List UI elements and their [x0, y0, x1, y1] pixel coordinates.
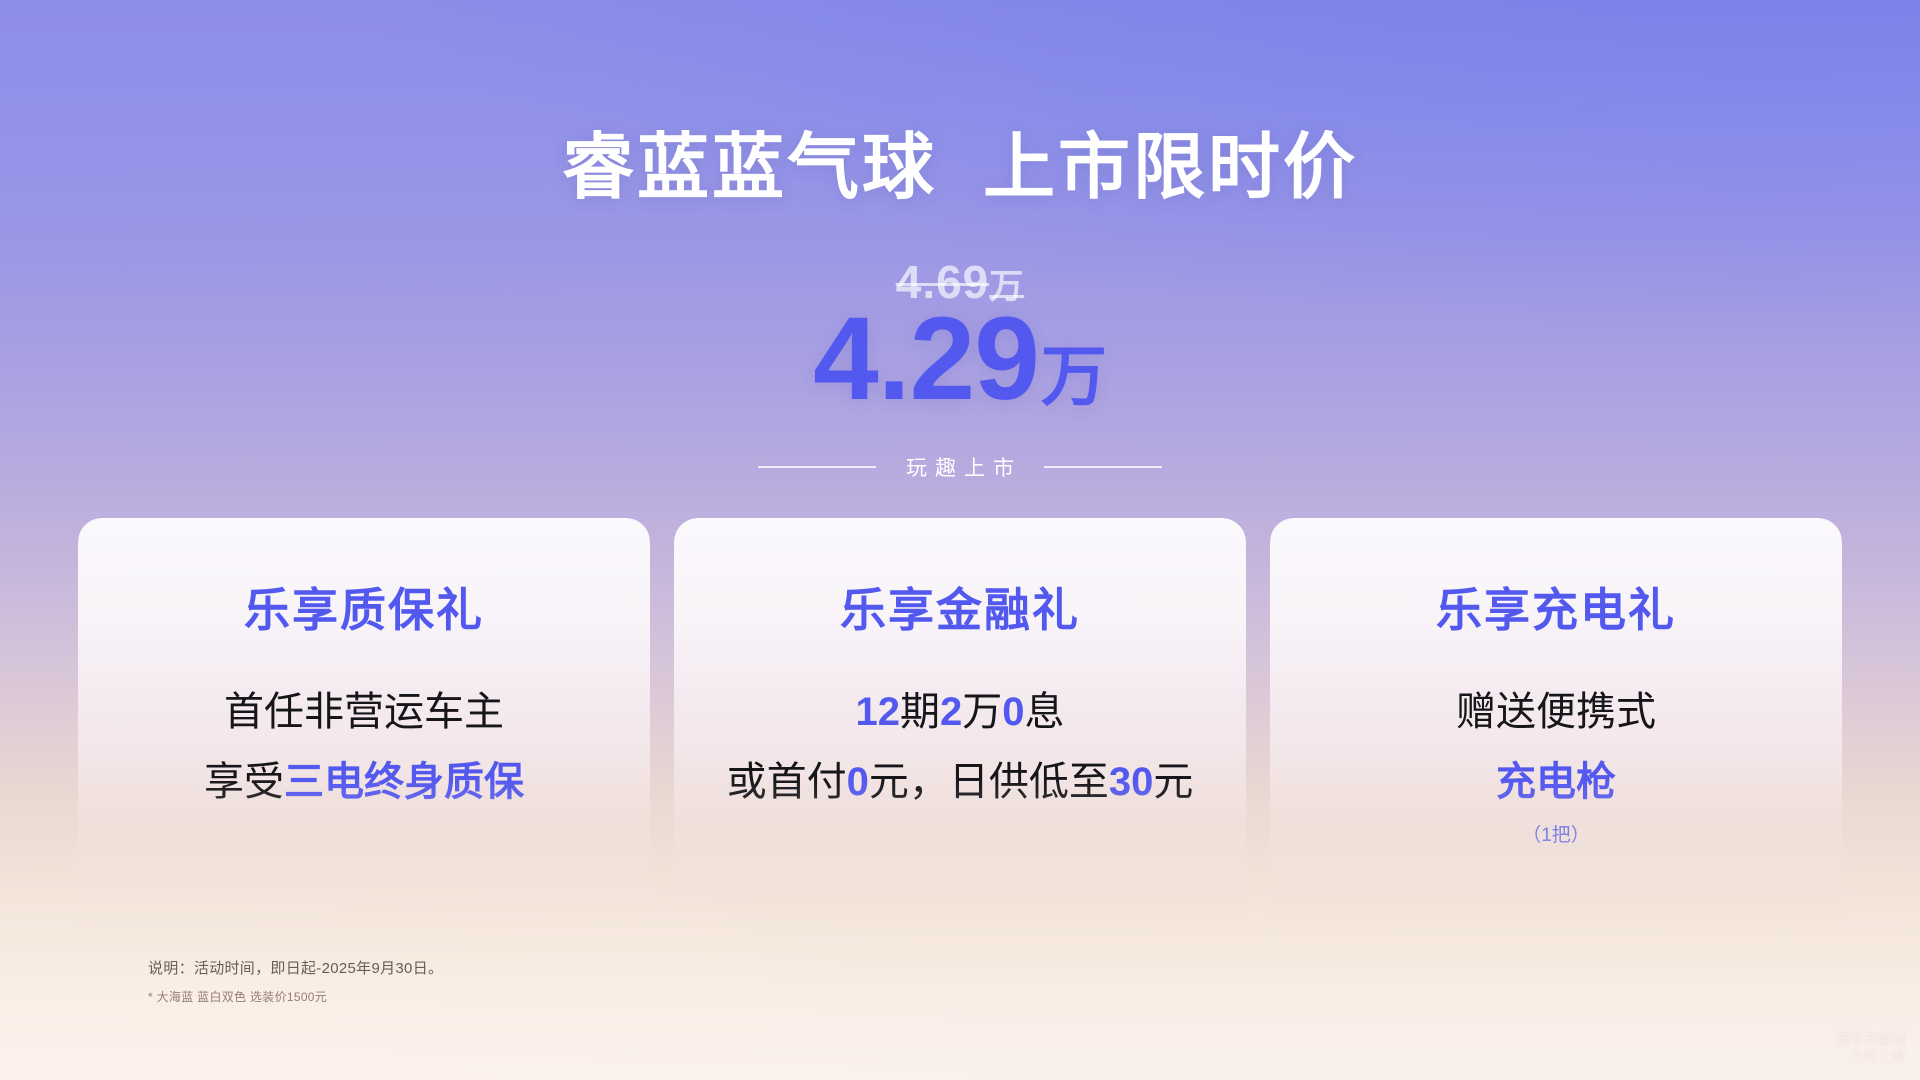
benefit-card-charging[interactable]: 乐享充电礼 赠送便携式 充电枪 （1把） — [1270, 518, 1842, 938]
watermark: 懂车帝原创 汽车之家 — [1836, 1031, 1906, 1066]
watermark-line-2: 汽车之家 — [1836, 1048, 1906, 1066]
card-line-1: 12期2万0息 — [674, 682, 1246, 742]
footnote-period: 说明：活动时间，即日起-2025年9月30日。 — [148, 957, 443, 978]
card-line-2-prefix: 享受 — [204, 760, 284, 804]
card-line-2-highlight: 三电终身质保 — [284, 760, 524, 804]
card-quantity-note: （1把） — [1270, 820, 1842, 847]
finance-term-count: 12 — [856, 690, 901, 734]
finance-amount-unit: 万 — [962, 690, 1002, 734]
benefit-card-list: 乐享质保礼 首任非营运车主 享受三电终身质保 乐享金融礼 12期2万0息 或首付… — [78, 518, 1842, 938]
promo-poster: 睿蓝蓝气球 上市限时价 4.69万 4.29万 玩趣上市 乐享质保礼 首任非营运… — [0, 0, 1920, 1080]
downpayment-label: 或首付 — [727, 760, 847, 804]
divider-line-left — [758, 466, 876, 468]
card-line-2: 享受三电终身质保 — [78, 752, 650, 812]
daily-unit: 元 — [1153, 760, 1193, 804]
footnote-color-option: * 大海蓝 蓝白双色 选装价1500元 — [148, 988, 327, 1005]
downpayment-value: 0 — [847, 760, 869, 804]
promo-price-value: 4.29 — [813, 293, 1039, 425]
daily-value: 30 — [1109, 760, 1154, 804]
page-title: 睿蓝蓝气球 上市限时价 — [0, 108, 1920, 213]
finance-amount: 2 — [940, 690, 962, 734]
promo-price-unit: 万 — [1041, 339, 1107, 413]
promo-price: 4.29万 — [0, 300, 1920, 418]
card-title: 乐享质保礼 — [78, 574, 650, 640]
finance-term-unit: 期 — [900, 690, 940, 734]
card-line-1: 赠送便携式 — [1270, 682, 1842, 742]
card-line-2: 或首付0元，日供低至30元 — [674, 752, 1246, 812]
slogan-divider: 玩趣上市 — [0, 452, 1920, 482]
finance-interest: 0 — [1002, 690, 1024, 734]
card-title: 乐享金融礼 — [674, 574, 1246, 640]
daily-label: 元，日供低至 — [869, 760, 1109, 804]
slogan-text: 玩趣上市 — [898, 452, 1022, 482]
finance-interest-label: 息 — [1025, 690, 1065, 734]
card-line-2: 充电枪 — [1270, 752, 1842, 812]
card-line-1: 首任非营运车主 — [78, 682, 650, 742]
divider-line-right — [1044, 466, 1162, 468]
benefit-card-finance[interactable]: 乐享金融礼 12期2万0息 或首付0元，日供低至30元 — [674, 518, 1246, 938]
card-line-2-highlight: 充电枪 — [1496, 760, 1616, 804]
card-title: 乐享充电礼 — [1270, 574, 1842, 640]
benefit-card-warranty[interactable]: 乐享质保礼 首任非营运车主 享受三电终身质保 — [78, 518, 650, 938]
watermark-line-1: 懂车帝原创 — [1836, 1031, 1906, 1049]
